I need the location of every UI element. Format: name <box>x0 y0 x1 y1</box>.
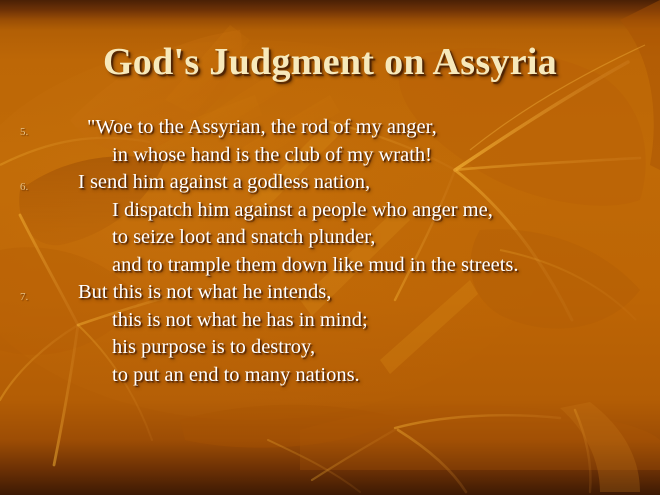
verse-block: 5. "Woe to the Assyrian, the rod of my a… <box>0 114 660 169</box>
slide-title: God's Judgment on Assyria <box>0 40 660 84</box>
verse-line: in whose hand is the club of my wrath! <box>78 142 660 170</box>
verse-block: 7. But this is not what he intends, this… <box>0 279 660 389</box>
verse-line: to put an end to many nations. <box>78 362 660 390</box>
verse-number: 5. <box>20 126 28 138</box>
verse-line: I dispatch him against a people who ange… <box>78 197 660 225</box>
verse-block: 6. I send him against a godless nation, … <box>0 169 660 279</box>
verse-number: 6. <box>20 181 28 193</box>
verse-number: 7. <box>20 291 28 303</box>
verse-line: to seize loot and snatch plunder, <box>78 224 660 252</box>
slide-body-text: 5. "Woe to the Assyrian, the rod of my a… <box>0 114 660 414</box>
verse-line: this is not what he has in mind; <box>78 307 660 335</box>
verse-line: his purpose is to destroy, <box>78 334 660 362</box>
presentation-slide: God's Judgment on Assyria 5. "Woe to the… <box>0 0 660 495</box>
leaf-shapes-bottom <box>180 402 660 492</box>
verse-line: and to trample them down like mud in the… <box>78 252 660 280</box>
verse-line: But this is not what he intends, <box>78 279 660 307</box>
verse-line: "Woe to the Assyrian, the rod of my ange… <box>78 114 660 142</box>
verse-line: I send him against a godless nation, <box>78 169 660 197</box>
